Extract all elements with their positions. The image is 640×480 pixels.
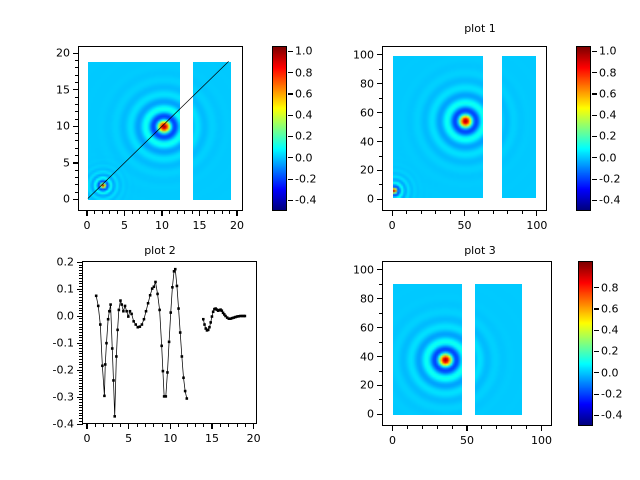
colorbar-tick (592, 72, 597, 73)
y-axis-tick-label: 40 (360, 350, 374, 363)
y-axis-tick (73, 162, 79, 163)
y-axis-minor-tick (379, 156, 383, 157)
colorbar-tick (288, 136, 293, 137)
y-axis-minor-tick (75, 184, 79, 185)
data-point-marker (181, 355, 184, 358)
panel-title: plot 3 (320, 244, 640, 257)
x-axis-minor-tick (220, 423, 221, 427)
data-point-marker (162, 370, 165, 373)
y-axis-tick-label: 20 (360, 164, 374, 177)
data-point-marker (165, 395, 168, 398)
colorbar-tick-label: 0.8 (295, 66, 313, 79)
x-axis-minor-tick (407, 425, 408, 429)
colorbar-tick-label: 0.8 (601, 281, 619, 294)
y-axis-tick (73, 126, 79, 127)
y-axis-minor-tick (79, 265, 83, 266)
data-point-marker (212, 310, 215, 313)
x-axis-minor-tick (137, 423, 138, 427)
x-axis-tick-label: 10 (155, 219, 169, 232)
y-axis-minor-tick (79, 364, 83, 365)
x-axis-tick-label: 50 (460, 434, 474, 447)
colorbar-tick-label: 1.0 (295, 45, 313, 58)
y-axis-tick (377, 269, 383, 270)
y-axis-minor-tick (75, 170, 79, 171)
y-axis-minor-tick (79, 324, 83, 325)
data-point-marker (109, 303, 112, 306)
y-axis-tick (77, 262, 83, 263)
y-axis-minor-tick (75, 155, 79, 156)
x-axis-tick (128, 423, 129, 429)
y-axis-tick-label: -0.2 (53, 364, 74, 377)
colorbar-tick (592, 115, 597, 116)
panel-title: plot 2 (0, 244, 320, 257)
data-point-marker (149, 294, 152, 297)
y-axis-minor-tick (79, 375, 83, 376)
y-axis-tick-label: 100 (353, 263, 374, 276)
colorbar-tick-label: 0.4 (599, 109, 617, 122)
y-axis-minor-tick (79, 332, 83, 333)
y-axis-tick-label: -0.4 (53, 418, 74, 431)
x-axis-minor-tick (214, 210, 215, 214)
y-axis-tick (77, 289, 83, 290)
data-point-marker (99, 323, 102, 326)
x-axis-tick-label: 20 (230, 219, 244, 232)
y-axis-minor-tick (79, 313, 83, 314)
x-axis-minor-tick (406, 210, 407, 214)
y-axis-minor-tick (79, 372, 83, 373)
x-axis-minor-tick (203, 423, 204, 427)
y-axis-minor-tick (79, 407, 83, 408)
x-axis-minor-tick (522, 210, 523, 214)
y-axis-minor-tick (79, 418, 83, 419)
colorbar-tick (594, 351, 599, 352)
data-point-marker (103, 395, 106, 398)
x-axis-minor-tick (103, 423, 104, 427)
x-axis-minor-tick (422, 425, 423, 429)
data-point-marker (132, 320, 135, 323)
data-point-marker (111, 347, 114, 350)
y-axis-minor-tick (79, 291, 83, 292)
data-point-marker (202, 318, 205, 321)
y-axis-tick (77, 397, 83, 398)
colorbar-tick (594, 372, 599, 373)
colorbar (576, 46, 591, 211)
data-point-marker (147, 302, 150, 305)
y-axis-tick (377, 356, 383, 357)
data-point-marker (168, 341, 171, 344)
x-axis-minor-tick (102, 210, 103, 214)
subplot-top-right: plot 1 020406080100050100 -0.4-0.20.00.2… (320, 8, 640, 240)
image-patch (393, 284, 462, 415)
data-point-marker (211, 315, 214, 318)
x-axis-minor-tick (511, 425, 512, 429)
y-axis-tick-label: 100 (353, 48, 374, 61)
colorbar (272, 46, 287, 211)
image-patch (193, 62, 231, 201)
y-axis-tick (377, 112, 383, 113)
data-point-marker (125, 310, 128, 313)
image-patch (502, 56, 537, 198)
x-axis-minor-tick (112, 423, 113, 427)
x-axis-tick (211, 423, 212, 429)
x-axis-tick-label: 0 (389, 219, 396, 232)
y-axis-minor-tick (75, 97, 79, 98)
y-axis-tick-label: 10 (56, 120, 70, 133)
x-axis-minor-tick (132, 210, 133, 214)
x-axis-tick-label: 0 (389, 434, 396, 447)
y-axis-minor-tick (379, 98, 383, 99)
data-point-marker (107, 318, 110, 321)
y-axis-minor-tick (379, 313, 383, 314)
x-axis-minor-tick (120, 423, 121, 427)
y-axis-minor-tick (79, 270, 83, 271)
colorbar-tick (288, 200, 293, 201)
y-axis-minor-tick (75, 133, 79, 134)
x-axis-minor-tick (435, 210, 436, 214)
data-point-marker (244, 315, 247, 318)
x-axis-minor-tick (109, 210, 110, 214)
y-axis-minor-tick (79, 394, 83, 395)
y-axis-tick-label: 0 (367, 408, 374, 421)
x-axis-tick-label: 10 (163, 432, 177, 445)
y-axis-tick (377, 298, 383, 299)
y-axis-minor-tick (79, 275, 83, 276)
x-axis-minor-tick (478, 210, 479, 214)
x-axis-tick (124, 210, 125, 216)
y-axis-minor-tick (75, 67, 79, 68)
y-axis-minor-tick (75, 75, 79, 76)
data-point-marker (120, 303, 123, 306)
data-point-marker (153, 285, 156, 288)
colorbar-tick (288, 115, 293, 116)
data-point-marker (184, 390, 187, 393)
x-axis-minor-tick (178, 423, 179, 427)
colorbar-tick (288, 179, 293, 180)
data-point-marker (186, 397, 189, 400)
x-axis-tick (199, 210, 200, 216)
x-axis-minor-tick (153, 423, 154, 427)
y-axis-minor-tick (79, 321, 83, 322)
data-point-marker (124, 305, 127, 308)
data-point-marker (203, 323, 206, 326)
y-axis-tick (73, 199, 79, 200)
x-axis-tick (253, 423, 254, 429)
x-axis-minor-tick (177, 210, 178, 214)
x-axis-minor-tick (229, 210, 230, 214)
y-axis-minor-tick (79, 281, 83, 282)
y-axis-tick-label: 15 (56, 83, 70, 96)
y-axis-minor-tick (75, 177, 79, 178)
x-axis-minor-tick (187, 423, 188, 427)
data-point-marker (97, 305, 100, 308)
x-axis-tick (161, 210, 162, 216)
x-axis-minor-tick (526, 425, 527, 429)
x-axis-minor-tick (195, 423, 196, 427)
colorbar-tick-label: 0.2 (599, 130, 617, 143)
y-axis-minor-tick (79, 345, 83, 346)
data-point-marker (174, 268, 177, 271)
colorbar-tick-label: -0.4 (295, 194, 316, 207)
x-axis-tick (536, 210, 537, 216)
y-axis-minor-tick (79, 267, 83, 268)
y-axis-minor-tick (79, 367, 83, 368)
line-series (83, 262, 256, 423)
data-point-marker (158, 309, 161, 312)
y-axis-minor-tick (79, 421, 83, 422)
y-axis-tick-label: 0 (367, 193, 374, 206)
y-axis-minor-tick (79, 337, 83, 338)
colorbar-tick (288, 72, 293, 73)
y-axis-minor-tick (79, 359, 83, 360)
y-axis-tick (377, 141, 383, 142)
x-axis-minor-tick (169, 210, 170, 214)
x-axis-tick-label: 5 (125, 432, 132, 445)
colorbar-tick (594, 308, 599, 309)
x-axis-tick-label: 100 (531, 434, 552, 447)
subplot-bottom-right: plot 3 020406080100050100 -0.4-0.20.00.2… (320, 240, 640, 480)
y-axis-minor-tick (79, 353, 83, 354)
colorbar-tick (288, 157, 293, 158)
x-axis-minor-tick (95, 423, 96, 427)
x-axis-tick-label: 15 (205, 432, 219, 445)
colorbar-tick (592, 136, 597, 137)
y-axis-tick-label: 80 (360, 292, 374, 305)
x-axis-minor-tick (154, 210, 155, 214)
y-axis-minor-tick (379, 184, 383, 185)
data-point-marker (118, 309, 121, 312)
series-line (96, 269, 187, 416)
data-point-marker (113, 415, 116, 418)
y-axis-minor-tick (79, 300, 83, 301)
colorbar-tick-label: 0.4 (295, 109, 313, 122)
colorbar-tick-label: -0.2 (601, 388, 622, 401)
figure-canvas: 0510152005101520 -0.4-0.20.00.20.40.60.8… (0, 0, 640, 480)
colorbar-tick-label: -0.2 (295, 173, 316, 186)
y-axis-tick-label: 0 (63, 193, 70, 206)
colorbar-tick (594, 394, 599, 395)
colorbar-tick-label: 0.0 (601, 366, 619, 379)
colorbar-tick-label: 0.6 (599, 87, 617, 100)
colorbar-tick-label: 1.0 (599, 45, 617, 58)
y-axis-minor-tick (79, 305, 83, 306)
y-axis-tick (77, 370, 83, 371)
y-axis-minor-tick (75, 104, 79, 105)
y-axis-minor-tick (79, 380, 83, 381)
x-axis-tick-label: 100 (526, 219, 547, 232)
data-point-marker (104, 363, 107, 366)
colorbar-tick-label: 0.0 (599, 151, 617, 164)
x-axis-minor-tick (162, 423, 163, 427)
colorbar-tick (592, 157, 597, 158)
colorbar-tick (592, 200, 597, 201)
x-axis-minor-tick (94, 210, 95, 214)
y-axis-minor-tick (79, 273, 83, 274)
y-axis-tick (377, 83, 383, 84)
colorbar-tick-label: -0.4 (601, 409, 622, 422)
subplot-bottom-left: plot 2 -0.4-0.3-0.2-0.10.00.10.205101520 (0, 240, 320, 480)
colorbar-tick (592, 51, 597, 52)
x-axis-tick-label: 0 (84, 219, 91, 232)
y-axis-minor-tick (79, 410, 83, 411)
colorbar-tick (592, 93, 597, 94)
y-axis-minor-tick (79, 356, 83, 357)
y-axis-minor-tick (79, 318, 83, 319)
x-axis-tick (170, 423, 171, 429)
y-axis-minor-tick (79, 286, 83, 287)
y-axis-minor-tick (75, 111, 79, 112)
x-axis-minor-tick (450, 210, 451, 214)
colorbar-tick-label: -0.4 (599, 194, 620, 207)
x-axis-minor-tick (493, 210, 494, 214)
colorbar-tick-label: 0.8 (599, 66, 617, 79)
y-axis-minor-tick (75, 82, 79, 83)
y-axis-tick (377, 385, 383, 386)
plot-area (78, 46, 243, 211)
x-axis-tick (464, 210, 465, 216)
data-point-marker (156, 293, 159, 296)
image-patch (475, 284, 521, 415)
x-axis-minor-tick (452, 425, 453, 429)
y-axis-minor-tick (79, 351, 83, 352)
y-axis-minor-tick (75, 119, 79, 120)
colorbar-tick-label: 0.2 (295, 130, 313, 143)
x-axis-minor-tick (145, 423, 146, 427)
data-point-marker (141, 323, 144, 326)
x-axis-minor-tick (117, 210, 118, 214)
x-axis-minor-tick (245, 423, 246, 427)
x-axis-tick-label: 5 (121, 219, 128, 232)
y-axis-tick (377, 199, 383, 200)
data-point-marker (179, 331, 182, 334)
y-axis-minor-tick (79, 348, 83, 349)
plot-area (382, 261, 552, 426)
y-axis-minor-tick (379, 399, 383, 400)
colorbar-tick (594, 415, 599, 416)
x-axis-tick-label: 0 (84, 432, 91, 445)
y-axis-tick-label: 20 (56, 47, 70, 60)
x-axis-minor-tick (421, 210, 422, 214)
y-axis-minor-tick (79, 278, 83, 279)
y-axis-minor-tick (79, 308, 83, 309)
data-point-marker (105, 342, 108, 345)
image-patch (393, 56, 483, 198)
x-axis-minor-tick (184, 210, 185, 214)
data-point-marker (207, 329, 210, 332)
panel-title: plot 1 (320, 22, 640, 35)
data-point-marker (119, 299, 122, 302)
x-axis-tick (236, 210, 237, 216)
data-point-marker (116, 329, 119, 332)
y-axis-minor-tick (379, 127, 383, 128)
y-axis-minor-tick (79, 329, 83, 330)
y-axis-tick (377, 54, 383, 55)
y-axis-minor-tick (379, 69, 383, 70)
data-point-marker (160, 345, 163, 348)
x-axis-minor-tick (192, 210, 193, 214)
y-axis-tick-label: 5 (63, 156, 70, 169)
y-axis-minor-tick (79, 302, 83, 303)
y-axis-tick (77, 343, 83, 344)
data-point-marker (176, 285, 179, 288)
colorbar-tick (594, 330, 599, 331)
data-point-marker (130, 313, 133, 316)
y-axis-minor-tick (79, 335, 83, 336)
y-axis-minor-tick (379, 371, 383, 372)
data-point-marker (108, 310, 111, 313)
x-axis-minor-tick (222, 210, 223, 214)
y-axis-minor-tick (79, 340, 83, 341)
x-axis-minor-tick (437, 425, 438, 429)
y-axis-minor-tick (79, 405, 83, 406)
colorbar-tick-label: 0.4 (601, 324, 619, 337)
y-axis-minor-tick (79, 391, 83, 392)
data-point-marker (134, 323, 137, 326)
y-axis-minor-tick (79, 283, 83, 284)
x-axis-minor-tick (139, 210, 140, 214)
y-axis-minor-tick (79, 362, 83, 363)
y-axis-minor-tick (79, 402, 83, 403)
y-axis-tick-label: 80 (360, 77, 374, 90)
data-point-marker (171, 286, 174, 289)
y-axis-minor-tick (379, 284, 383, 285)
data-point-marker (101, 364, 104, 367)
y-axis-tick (77, 424, 83, 425)
data-point-marker (129, 310, 132, 313)
image-patch (88, 62, 180, 201)
data-point-marker (95, 295, 98, 298)
colorbar-tick-label: -0.2 (599, 173, 620, 186)
x-axis-tick (392, 425, 393, 431)
y-axis-minor-tick (79, 378, 83, 379)
x-axis-minor-tick (496, 425, 497, 429)
x-axis-tick (541, 425, 542, 431)
y-axis-tick (73, 53, 79, 54)
x-axis-minor-tick (481, 425, 482, 429)
subplot-top-left: 0510152005101520 -0.4-0.20.00.20.40.60.8… (0, 8, 320, 240)
data-point-marker (112, 379, 115, 382)
y-axis-tick-label: 60 (360, 106, 374, 119)
data-point-marker (115, 355, 118, 358)
data-point-marker (169, 311, 172, 314)
y-axis-minor-tick (79, 294, 83, 295)
x-axis-minor-tick (207, 210, 208, 214)
data-point-marker (166, 371, 169, 374)
plot-area (382, 46, 547, 211)
data-point-marker (145, 310, 148, 313)
data-point-marker (208, 326, 211, 329)
x-axis-minor-tick (228, 423, 229, 427)
y-axis-tick-label: 20 (360, 379, 374, 392)
y-axis-tick (73, 89, 79, 90)
y-axis-minor-tick (75, 192, 79, 193)
y-axis-tick-label: 0.2 (57, 256, 75, 269)
x-axis-tick (466, 425, 467, 431)
data-point-marker (177, 307, 180, 310)
y-axis-minor-tick (379, 342, 383, 343)
data-point-marker (154, 281, 157, 284)
x-axis-tick-label: 50 (458, 219, 472, 232)
x-axis-tick-label: 20 (247, 432, 261, 445)
y-axis-minor-tick (75, 148, 79, 149)
y-axis-tick (77, 316, 83, 317)
y-axis-tick-label: 40 (360, 135, 374, 148)
y-axis-minor-tick (79, 383, 83, 384)
colorbar-tick-label: 0.6 (295, 87, 313, 100)
x-axis-tick-label: 15 (193, 219, 207, 232)
y-axis-minor-tick (79, 386, 83, 387)
y-axis-tick (377, 414, 383, 415)
y-axis-minor-tick (75, 60, 79, 61)
